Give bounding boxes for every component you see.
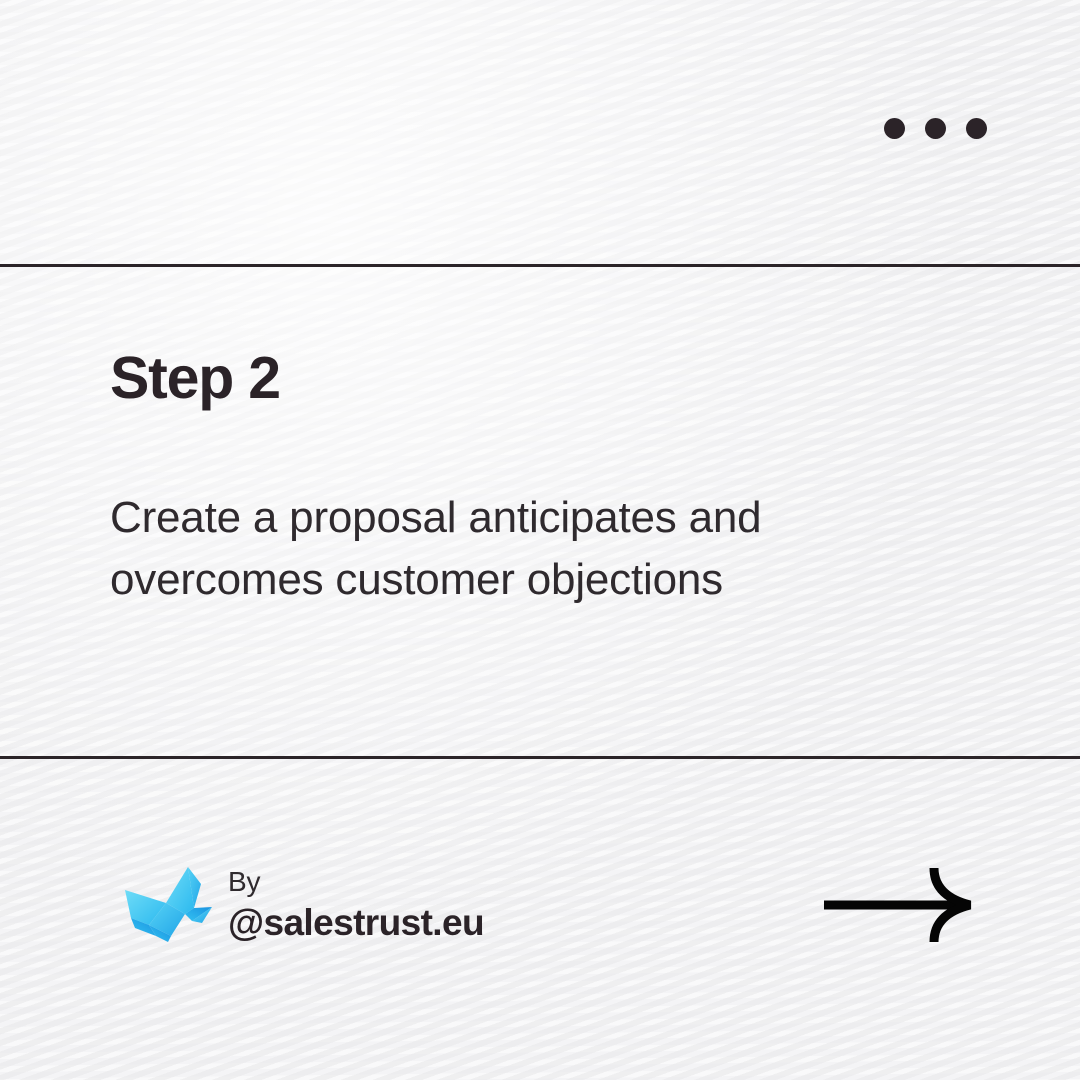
ellipsis-dot-1 xyxy=(884,118,905,139)
brand-handle: @salestrust.eu xyxy=(228,901,484,945)
ellipsis-dot-3 xyxy=(966,118,987,139)
brand-by-label: By xyxy=(228,864,484,899)
body-text: Create a proposal anticipates and overco… xyxy=(110,487,910,611)
brand-text-group: By @salestrust.eu xyxy=(228,864,484,945)
origami-crane-logo xyxy=(122,862,214,948)
page-title: Step 2 xyxy=(110,348,280,410)
arrow-right-icon[interactable] xyxy=(822,862,978,948)
carousel-slide-card: Step 2 Create a proposal anticipates and… xyxy=(0,0,1080,1080)
ellipsis-menu-icon[interactable] xyxy=(884,118,987,139)
divider-bottom xyxy=(0,756,1080,759)
ellipsis-dot-2 xyxy=(925,118,946,139)
divider-top xyxy=(0,264,1080,267)
brand-attribution[interactable]: By @salestrust.eu xyxy=(122,862,484,948)
